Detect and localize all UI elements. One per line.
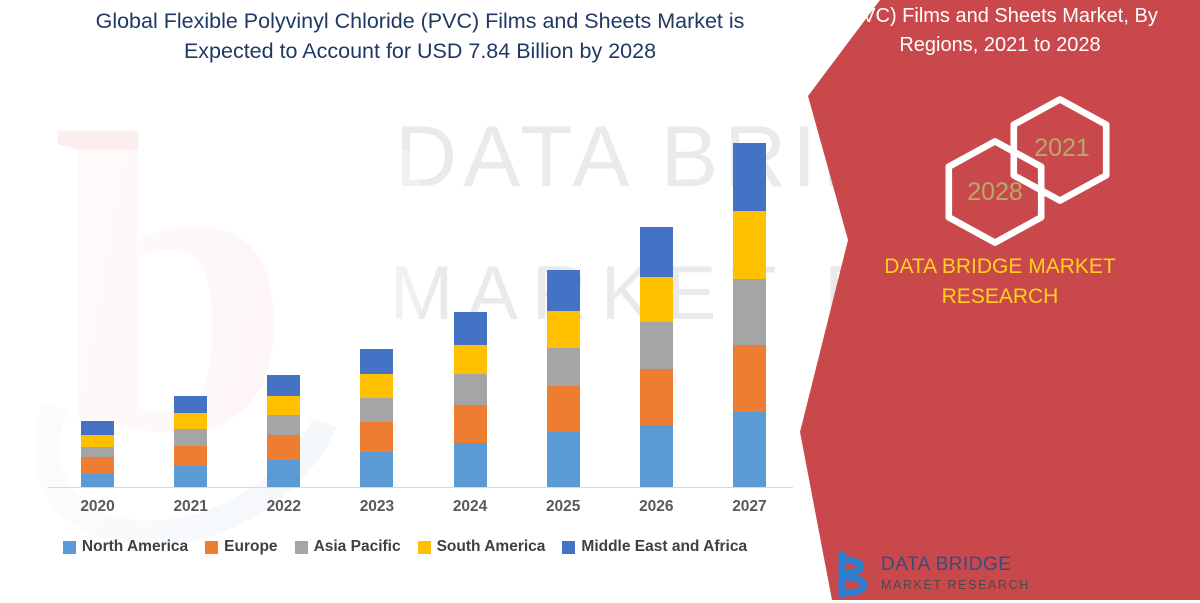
- legend-swatch-icon: [63, 541, 76, 554]
- legend-item-middle-east-and-africa[interactable]: Middle East and Africa: [562, 538, 747, 556]
- bar-segment[interactable]: [81, 421, 114, 435]
- bar-segment[interactable]: [174, 429, 207, 446]
- bar-segment[interactable]: [454, 312, 487, 344]
- bar-segment[interactable]: [81, 457, 114, 474]
- bar-group-2020[interactable]: [81, 421, 114, 487]
- bar-segment[interactable]: [640, 277, 673, 322]
- dbmr-logo-text: DATA BRIDGE MARKET RESEARCH: [881, 555, 1030, 595]
- bar-segment[interactable]: [547, 386, 580, 433]
- bar-segment[interactable]: [733, 279, 766, 345]
- hexagon-label-2028: 2028: [967, 178, 1023, 207]
- legend-item-north-america[interactable]: North America: [63, 538, 188, 556]
- legend-item-europe[interactable]: Europe: [205, 538, 277, 556]
- dbmr-logo-name: DATA BRIDGE: [881, 554, 1011, 575]
- legend-label: South America: [437, 538, 546, 556]
- legend-swatch-icon: [418, 541, 431, 554]
- x-tick-2027: 2027: [709, 498, 789, 516]
- bar-segment[interactable]: [640, 322, 673, 370]
- bar-segment[interactable]: [733, 143, 766, 211]
- right-info-panel: (PVC) Films and Sheets Market, By Region…: [800, 0, 1200, 600]
- bar-group-2022[interactable]: [267, 375, 300, 487]
- legend-swatch-icon: [205, 541, 218, 554]
- bar-group-2021[interactable]: [174, 396, 207, 486]
- bar-segment[interactable]: [81, 435, 114, 446]
- legend-item-south-america[interactable]: South America: [418, 538, 546, 556]
- bar-segment[interactable]: [733, 345, 766, 413]
- bar-segment[interactable]: [454, 443, 487, 487]
- plot-area: [48, 92, 793, 488]
- bar-segment[interactable]: [174, 413, 207, 429]
- bar-segment[interactable]: [547, 270, 580, 311]
- bar-segment[interactable]: [640, 369, 673, 424]
- bar-segment[interactable]: [267, 460, 300, 487]
- bar-segment[interactable]: [733, 211, 766, 280]
- bar-segment[interactable]: [640, 425, 673, 487]
- brand-name: DATA BRIDGE MARKET RESEARCH: [800, 252, 1200, 312]
- bar-segment[interactable]: [454, 405, 487, 443]
- legend-swatch-icon: [295, 541, 308, 554]
- bar-segment[interactable]: [174, 466, 207, 486]
- page-title: Global Flexible Polyvinyl Chloride (PVC)…: [60, 6, 780, 66]
- dbmr-logo: DATA BRIDGE MARKET RESEARCH: [836, 552, 1030, 598]
- legend-label: North America: [82, 538, 188, 556]
- dbmr-logo-subtitle: MARKET RESEARCH: [881, 575, 1030, 595]
- bar-segment[interactable]: [360, 349, 393, 375]
- legend-label: Middle East and Africa: [581, 538, 747, 556]
- x-tick-2022: 2022: [244, 498, 324, 516]
- bridge-logo-icon: [836, 552, 872, 598]
- bar-segment[interactable]: [174, 396, 207, 413]
- legend-item-asia-pacific[interactable]: Asia Pacific: [295, 538, 401, 556]
- bar-segment[interactable]: [360, 422, 393, 452]
- right-panel-title: (PVC) Films and Sheets Market, By Region…: [800, 2, 1200, 60]
- bar-segment[interactable]: [547, 311, 580, 348]
- chart-panel: Global Flexible Polyvinyl Chloride (PVC)…: [0, 0, 860, 600]
- bar-group-2026[interactable]: [640, 227, 673, 487]
- bar-segment[interactable]: [547, 348, 580, 386]
- bar-segment[interactable]: [267, 435, 300, 460]
- x-axis-line: [48, 487, 793, 489]
- x-tick-2024: 2024: [430, 498, 510, 516]
- x-tick-2025: 2025: [523, 498, 603, 516]
- bar-segment[interactable]: [81, 474, 114, 486]
- x-tick-2026: 2026: [616, 498, 696, 516]
- bar-segment[interactable]: [174, 446, 207, 466]
- bar-group-2027[interactable]: [733, 143, 766, 487]
- hexagon-badge-2028: 2028: [940, 137, 1050, 247]
- bar-group-2024[interactable]: [454, 312, 487, 486]
- x-tick-2021: 2021: [151, 498, 231, 516]
- bar-segment[interactable]: [547, 432, 580, 486]
- legend-swatch-icon: [562, 541, 575, 554]
- legend-label: Europe: [224, 538, 277, 556]
- x-tick-2023: 2023: [337, 498, 417, 516]
- bar-segment[interactable]: [360, 398, 393, 422]
- bar-segment[interactable]: [360, 374, 393, 398]
- bar-segment[interactable]: [267, 396, 300, 415]
- bar-segment[interactable]: [640, 227, 673, 278]
- bar-segment[interactable]: [733, 412, 766, 486]
- bar-segment[interactable]: [454, 345, 487, 374]
- bar-segment[interactable]: [360, 452, 393, 486]
- bar-segment[interactable]: [267, 415, 300, 435]
- bar-segment[interactable]: [81, 447, 114, 457]
- bar-segment[interactable]: [454, 374, 487, 404]
- legend-label: Asia Pacific: [314, 538, 401, 556]
- chart-legend: North AmericaEuropeAsia PacificSouth Ame…: [0, 538, 810, 556]
- bar-group-2023[interactable]: [360, 349, 393, 487]
- bar-segment[interactable]: [267, 375, 300, 396]
- x-axis-tick-labels: 20202021202220232024202520262027: [48, 498, 793, 524]
- bar-group-2025[interactable]: [547, 270, 580, 487]
- x-tick-2020: 2020: [58, 498, 138, 516]
